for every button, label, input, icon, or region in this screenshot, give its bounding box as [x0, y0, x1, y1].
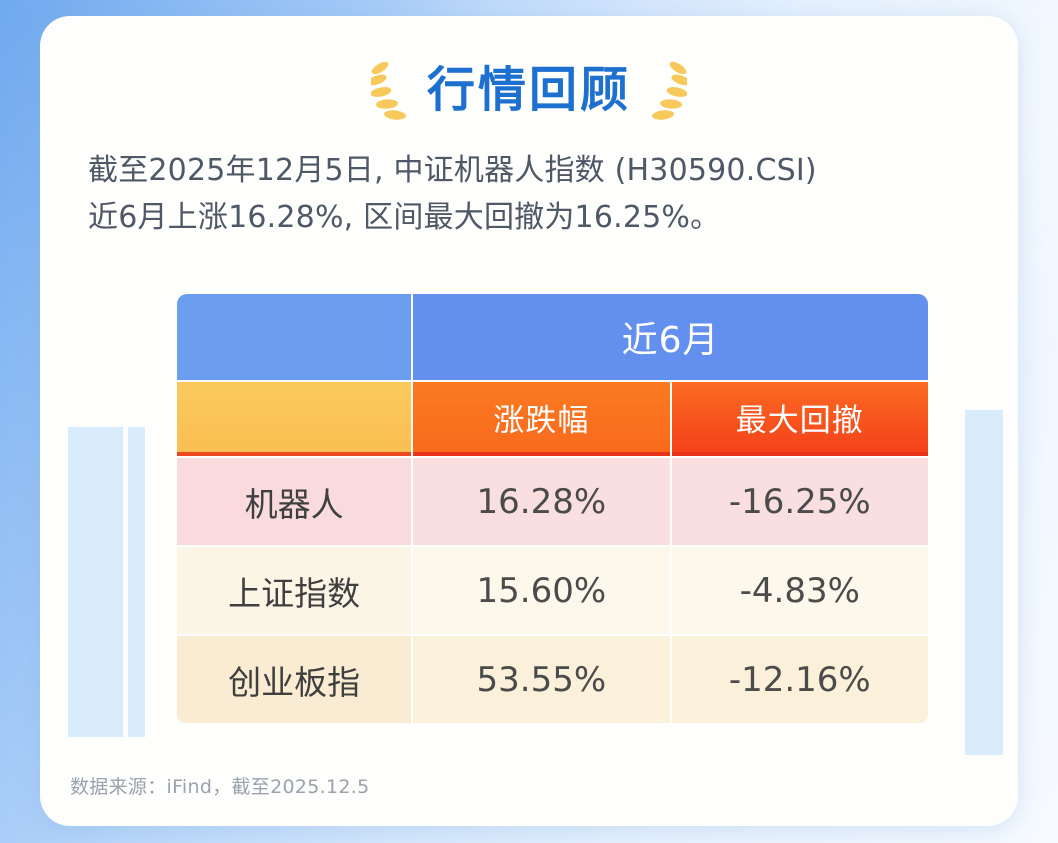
row-drawdown: -16.25% — [672, 458, 928, 545]
row-change: 15.60% — [413, 547, 669, 634]
content-card: 行情回顾 截至2025年12月5日, 中证机器人指数 (H30590.CSI) … — [40, 16, 1018, 826]
table-row: 上证指数 15.60% -4.83% — [177, 547, 928, 634]
table-period-header: 近6月 — [413, 294, 928, 380]
row-label: 机器人 — [177, 458, 411, 545]
decorative-bar-left-wide — [68, 427, 123, 737]
row-label: 创业板指 — [177, 636, 411, 723]
page-title: 行情回顾 — [427, 66, 631, 114]
table-header-drawdown: 最大回撤 — [672, 382, 928, 456]
row-drawdown: -4.83% — [672, 547, 928, 634]
row-change: 16.28% — [413, 458, 669, 545]
summary-paragraph: 截至2025年12月5日, 中证机器人指数 (H30590.CSI) 近6月上涨… — [88, 148, 978, 241]
row-label: 上证指数 — [177, 547, 411, 634]
table-header-change: 涨跌幅 — [413, 382, 669, 456]
performance-table: 近6月 涨跌幅 最大回撤 机器人 16.28% -16.25% 上证指数 15.… — [175, 292, 930, 725]
wheat-sprig-icon — [371, 59, 413, 121]
row-drawdown: -12.16% — [672, 636, 928, 723]
row-change: 53.55% — [413, 636, 669, 723]
table-metric-blank-cell — [177, 382, 411, 456]
table-row: 机器人 16.28% -16.25% — [177, 458, 928, 545]
summary-line-1: 截至2025年12月5日, 中证机器人指数 (H30590.CSI) — [88, 148, 978, 195]
table-row: 创业板指 53.55% -12.16% — [177, 636, 928, 723]
table-header-row-period: 近6月 — [177, 294, 928, 380]
title-row: 行情回顾 — [40, 54, 1018, 126]
wheat-sprig-icon — [645, 59, 687, 121]
decorative-bar-right — [965, 410, 1003, 755]
poster-background: 行情回顾 截至2025年12月5日, 中证机器人指数 (H30590.CSI) … — [0, 0, 1058, 843]
table-corner-cell — [177, 294, 411, 380]
summary-line-2: 近6月上涨16.28%, 区间最大回撤为16.25%。 — [88, 195, 978, 242]
table-header-row-metrics: 涨跌幅 最大回撤 — [177, 382, 928, 456]
data-source-note: 数据来源：iFind，截至2025.12.5 — [70, 772, 370, 799]
decorative-bar-left-narrow — [128, 427, 145, 737]
